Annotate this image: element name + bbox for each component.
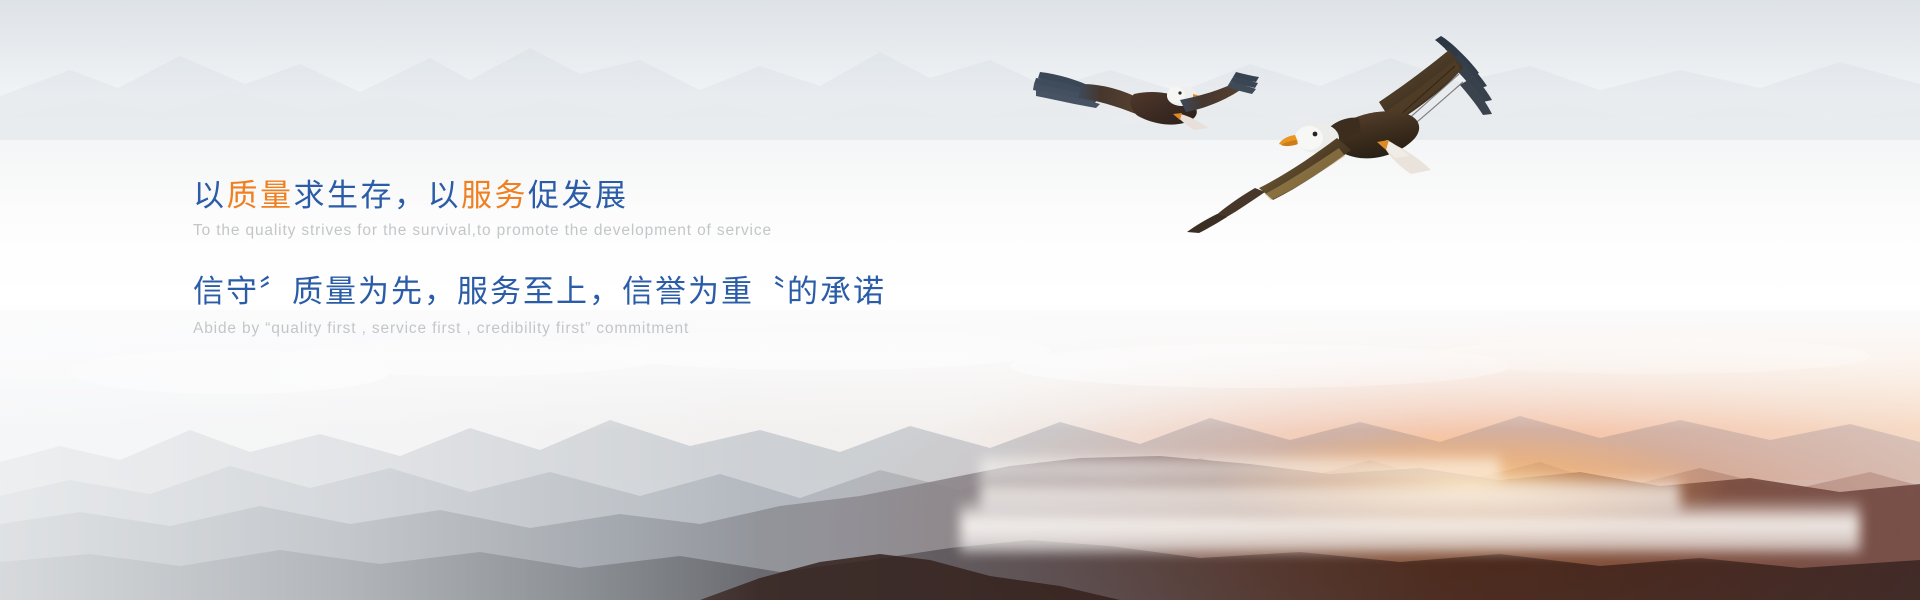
- subtitle-quality: To the quality strives for the survival,…: [193, 222, 1193, 240]
- subtitle-commitment: Abide by “quality first , service first …: [193, 320, 1193, 338]
- mountain-landscape: [0, 310, 1920, 600]
- hero-banner: 以质量求生存，以服务促发展 To the quality strives for…: [0, 0, 1920, 600]
- headline-part-0: 以: [193, 178, 227, 213]
- slogan-copy-block: 以质量求生存，以服务促发展 To the quality strives for…: [193, 176, 1193, 338]
- headline-part-1-accent: 质量: [227, 178, 294, 213]
- headline-quality: 以质量求生存，以服务促发展: [193, 176, 1193, 216]
- slogan-commitment: 信守〞质量为先，服务至上，信誉为重〝的承诺 Abide by “quality …: [193, 272, 1193, 339]
- bald-eagle-icon-large: [1155, 28, 1500, 243]
- bald-eagle-icon-small: [1030, 44, 1260, 154]
- headline-part-3-accent: 服务: [461, 178, 528, 213]
- slogan-quality: 以质量求生存，以服务促发展 To the quality strives for…: [193, 176, 1193, 240]
- headline-part-2: 求生存，以: [294, 178, 462, 213]
- top-ridge-mountains: [0, 0, 1920, 140]
- headline-part-4: 促发展: [528, 178, 629, 213]
- headline-commitment: 信守〞质量为先，服务至上，信誉为重〝的承诺: [193, 272, 1193, 312]
- mountain-layers: [0, 310, 1920, 600]
